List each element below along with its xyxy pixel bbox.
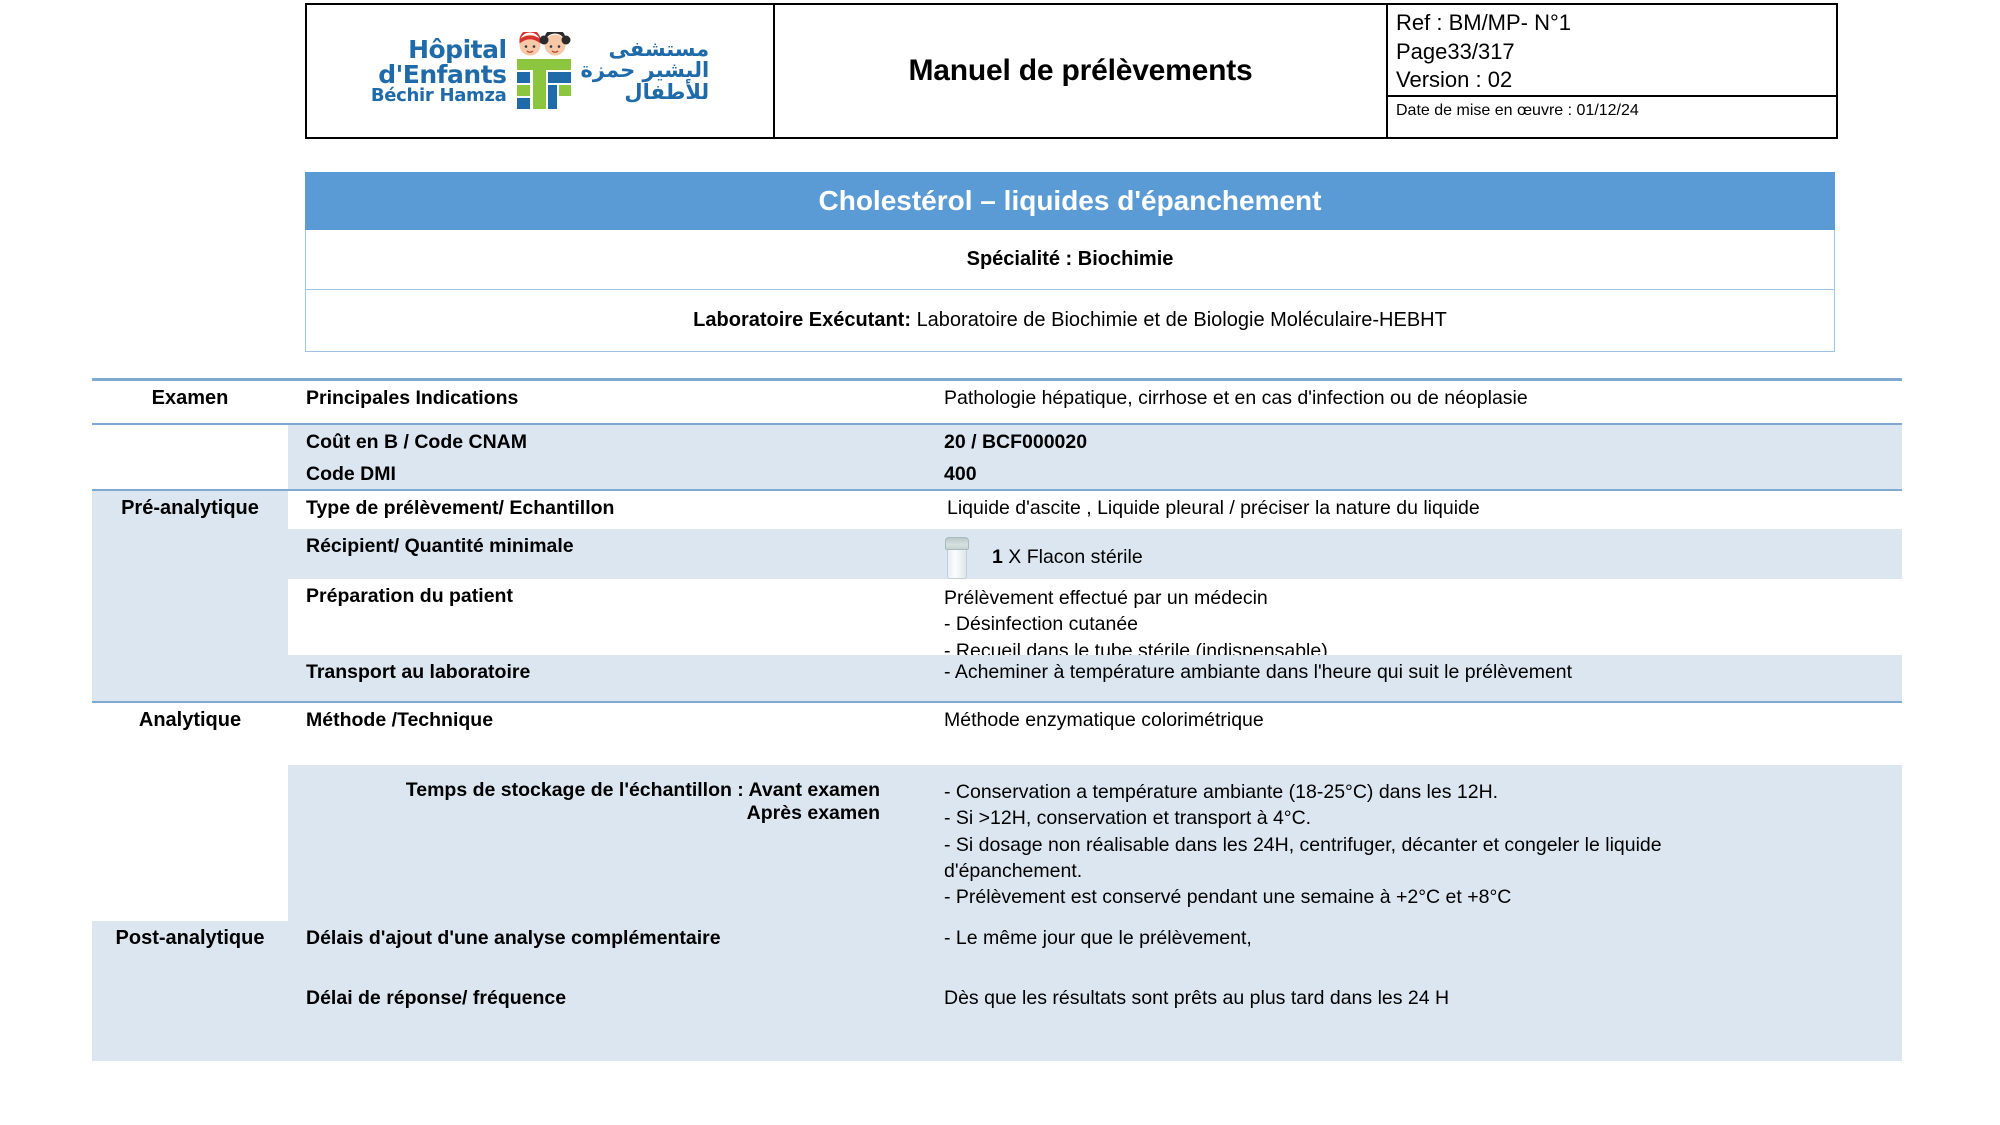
phase-label-post-analytique: Post-analytique bbox=[92, 921, 288, 975]
logo-line-denfants: d'Enfants bbox=[378, 62, 506, 87]
specialty-label: Spécialité : bbox=[967, 248, 1073, 270]
hospital-logo: Hôpital d'Enfants Béchir Hamza bbox=[371, 32, 709, 110]
logo-arabic-line-2: البشير حمزة bbox=[581, 60, 710, 81]
document-version: Version : 02 bbox=[1396, 66, 1836, 95]
phase-spacer bbox=[92, 765, 288, 921]
table-row: Récipient/ Quantité minimale 1 X Flacon … bbox=[92, 529, 1902, 579]
row-value-cout: 20 / BCF000020 bbox=[908, 425, 1902, 457]
table-row: Code DMI 400 bbox=[92, 457, 1902, 491]
row-label-methode: Méthode /Technique bbox=[288, 703, 908, 765]
row-value-delai-reponse: Dès que les résultats sont prêts au plus… bbox=[908, 975, 1902, 1061]
document-title: Manuel de prélèvements bbox=[908, 54, 1252, 88]
laboratory-label: Laboratoire Exécutant: bbox=[693, 309, 911, 331]
document-meta-cell: Ref : BM/MP- N°1 Page33/317 Version : 02… bbox=[1388, 5, 1836, 137]
row-value-type-prelevement: Liquide d'ascite , Liquide pleural / pré… bbox=[908, 491, 1902, 529]
phase-label-examen: Examen bbox=[92, 381, 288, 423]
stockage-line: - Prélèvement est conservé pendant une s… bbox=[944, 884, 1888, 910]
table-row: Examen Principales Indications Pathologi… bbox=[92, 381, 1902, 423]
phase-spacer bbox=[92, 655, 288, 701]
table-row: Pré-analytique Type de prélèvement/ Echa… bbox=[92, 491, 1902, 529]
analysis-title-banner: Cholestérol – liquides d'épanchement bbox=[305, 172, 1835, 230]
row-value-code-dmi: 400 bbox=[908, 457, 1902, 489]
row-label-stockage: Temps de stockage de l'échantillon : Ava… bbox=[288, 765, 908, 921]
document-header-table: Hôpital d'Enfants Béchir Hamza bbox=[305, 3, 1838, 139]
table-row: Temps de stockage de l'échantillon : Ava… bbox=[92, 765, 1902, 921]
stockage-label-line-1: Temps de stockage de l'échantillon : Ava… bbox=[306, 779, 880, 802]
specialty-row: Spécialité : Biochimie bbox=[305, 230, 1835, 290]
logo-children-emblem-icon bbox=[511, 32, 577, 110]
analysis-detail-table: Examen Principales Indications Pathologi… bbox=[92, 378, 1902, 1061]
specialty-text: Spécialité : Biochimie bbox=[967, 248, 1174, 271]
document-page: Hôpital d'Enfants Béchir Hamza bbox=[0, 0, 2000, 1125]
phase-label-pre-analytique: Pré-analytique bbox=[92, 491, 288, 529]
preparation-line: - Désinfection cutanée bbox=[944, 611, 1888, 637]
row-value-preparation: Prélèvement effectué par un médecin - Dé… bbox=[908, 579, 1902, 655]
row-label-preparation: Préparation du patient bbox=[288, 579, 908, 655]
row-label-recipient: Récipient/ Quantité minimale bbox=[288, 529, 908, 579]
row-value-transport: - Acheminer à température ambiante dans … bbox=[908, 655, 1902, 701]
row-label-indications: Principales Indications bbox=[288, 381, 908, 423]
hospital-logo-cell: Hôpital d'Enfants Béchir Hamza bbox=[307, 5, 775, 137]
recipient-qty: 1 bbox=[992, 546, 1003, 568]
document-meta-top: Ref : BM/MP- N°1 Page33/317 Version : 02 bbox=[1388, 5, 1836, 97]
phase-spacer bbox=[92, 579, 288, 655]
logo-french-text: Hôpital d'Enfants Béchir Hamza bbox=[371, 37, 507, 105]
row-label-delais-ajout: Délais d'ajout d'une analyse complémenta… bbox=[288, 921, 908, 975]
table-row: Préparation du patient Prélèvement effec… bbox=[92, 579, 1902, 655]
preparation-line: Prélèvement effectué par un médecin bbox=[944, 585, 1888, 611]
document-page-number: Page33/317 bbox=[1396, 38, 1836, 67]
logo-line-bechir-hamza: Béchir Hamza bbox=[371, 87, 507, 105]
document-ref: Ref : BM/MP- N°1 bbox=[1396, 9, 1836, 38]
laboratory-text: Laboratoire Exécutant: Laboratoire de Bi… bbox=[693, 309, 1447, 332]
row-label-type-prelevement: Type de prélèvement/ Echantillon bbox=[288, 491, 908, 529]
stockage-line: - Conservation a température ambiante (1… bbox=[944, 779, 1888, 805]
logo-emblem-svg bbox=[511, 32, 577, 110]
phase-spacer bbox=[92, 975, 288, 1061]
analysis-header-table: Cholestérol – liquides d'épanchement Spé… bbox=[305, 172, 1835, 352]
row-label-transport: Transport au laboratoire bbox=[288, 655, 908, 701]
row-value-recipient: 1 X Flacon stérile bbox=[908, 529, 1902, 579]
row-label-code-dmi: Code DMI bbox=[288, 457, 908, 489]
row-label-cout: Coût en B / Code CNAM bbox=[288, 425, 908, 457]
row-value-delais-ajout: - Le même jour que le prélèvement, bbox=[908, 921, 1902, 975]
recipient-text: X Flacon stérile bbox=[1003, 546, 1143, 568]
vial-icon bbox=[944, 535, 970, 579]
phase-spacer bbox=[92, 425, 288, 457]
table-row: Post-analytique Délais d'ajout d'une ana… bbox=[92, 921, 1902, 975]
table-row: Coût en B / Code CNAM 20 / BCF000020 bbox=[92, 423, 1902, 457]
stockage-line: - Si dosage non réalisable dans les 24H,… bbox=[944, 832, 1799, 885]
stockage-line: - Si >12H, conservation et transport à 4… bbox=[944, 805, 1888, 831]
stockage-label-line-2: Après examen bbox=[306, 802, 880, 825]
row-label-delai-reponse: Délai de réponse/ fréquence bbox=[288, 975, 908, 1061]
specialty-value: Biochimie bbox=[1078, 248, 1174, 270]
laboratory-row: Laboratoire Exécutant: Laboratoire de Bi… bbox=[305, 290, 1835, 352]
logo-arabic-line-3: للأطفال bbox=[624, 82, 709, 103]
row-value-stockage: - Conservation a température ambiante (1… bbox=[908, 765, 1902, 921]
laboratory-value: Laboratoire de Biochimie et de Biologie … bbox=[917, 309, 1447, 331]
phase-spacer bbox=[92, 457, 288, 489]
logo-arabic-line-1: مستشفى bbox=[609, 39, 710, 60]
phase-spacer bbox=[92, 529, 288, 579]
table-row: Transport au laboratoire - Acheminer à t… bbox=[92, 655, 1902, 703]
phase-label-analytique: Analytique bbox=[92, 703, 288, 765]
document-title-cell: Manuel de prélèvements bbox=[775, 5, 1388, 137]
logo-arabic-text: مستشفى البشير حمزة للأطفال bbox=[581, 39, 710, 103]
row-value-methode: Méthode enzymatique colorimétrique bbox=[908, 703, 1902, 765]
document-meta-bottom: Date de mise en œuvre : 01/12/24 bbox=[1388, 97, 1836, 137]
logo-line-hopital: Hôpital bbox=[408, 37, 506, 62]
analysis-title: Cholestérol – liquides d'épanchement bbox=[819, 185, 1322, 217]
table-row: Délai de réponse/ fréquence Dès que les … bbox=[92, 975, 1902, 1061]
table-row: Analytique Méthode /Technique Méthode en… bbox=[92, 703, 1902, 765]
document-effective-date: Date de mise en œuvre : 01/12/24 bbox=[1396, 102, 1836, 120]
row-value-indications: Pathologie hépatique, cirrhose et en cas… bbox=[908, 381, 1902, 423]
